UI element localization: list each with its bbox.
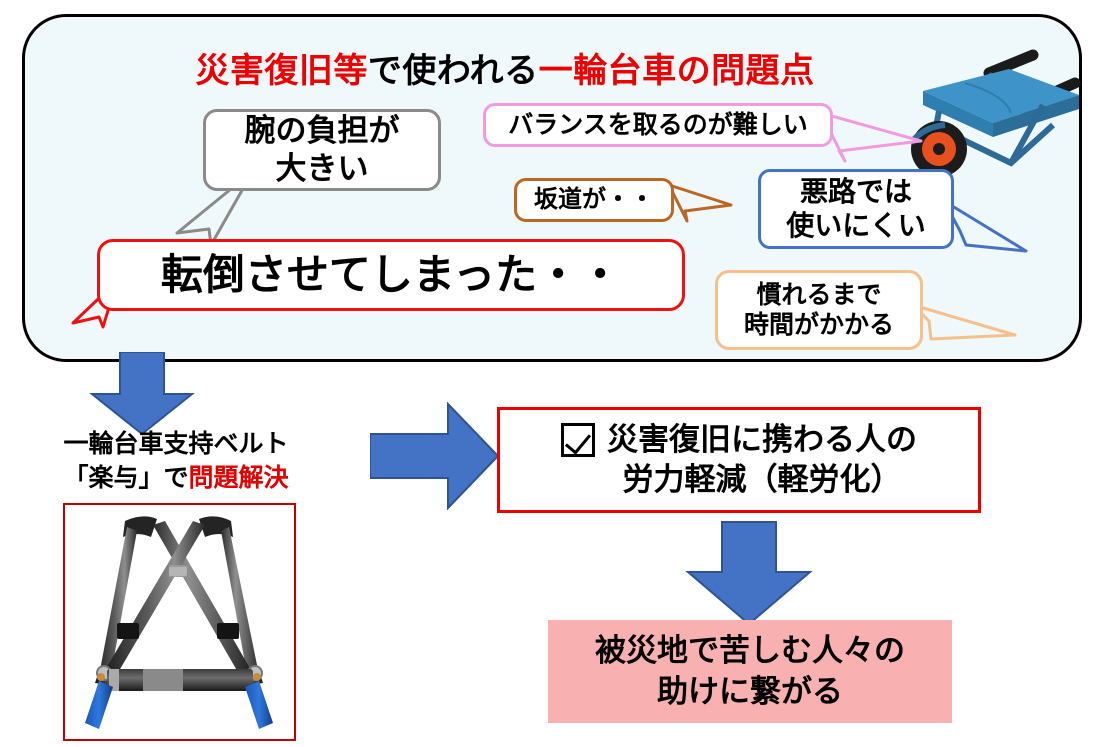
speech-bubble-arm-burden[interactable]: 腕の負担が 大きい [203, 109, 441, 191]
result-line1: 災害復旧に携わる人の [607, 422, 917, 457]
title-part-1: 災害復旧等 [195, 52, 368, 90]
bubble-text-time: 慣れるまで 時間がかかる [744, 280, 894, 341]
belt-caption-line2-red: 問題解決 [189, 464, 289, 492]
wheelbarrow-icon [893, 39, 1097, 189]
bubble-text-road: 悪路では 使いにくい [786, 175, 925, 243]
title-part-3: 一輪台車の問題点 [539, 52, 815, 90]
result-box: 災害復旧に携わる人の 労力軽減（軽労化） [497, 407, 981, 513]
bubble-text-arm: 腕の負担が 大きい [245, 112, 400, 188]
bubble-text-balance: バランスを取るのが難しい [508, 110, 808, 141]
arrow-down-to-belt-icon [86, 352, 198, 436]
speech-bubble-takes-time[interactable]: 慣れるまで 時間がかかる [715, 270, 923, 350]
belt-caption: 一輪台車支持ベルト 「楽与」で問題解決 [20, 428, 332, 496]
final-line1: 被災地で苦しむ人々の [595, 633, 905, 668]
speech-bubble-balance[interactable]: バランスを取るのが難しい [483, 103, 833, 147]
result-line2: 労力軽減（軽労化） [607, 460, 917, 500]
speech-bubble-bad-road[interactable]: 悪路では 使いにくい [758, 169, 954, 249]
infographic-canvas: 災害復旧等で使われる一輪台車の問題点 [0, 0, 1097, 747]
arrow-right-to-result-icon [370, 402, 500, 510]
belt-harness-illustration [65, 505, 294, 739]
final-outcome-box: 被災地で苦しむ人々の 助けに繋がる [548, 620, 952, 723]
bubble-text-slope: 坂道が・・ [534, 185, 654, 214]
belt-caption-line1: 一輪台車支持ベルト [20, 428, 332, 462]
belt-caption-line2-black: 「楽与」で [63, 464, 188, 492]
belt-caption-line2: 「楽与」で問題解決 [20, 462, 332, 496]
final-text: 被災地で苦しむ人々の 助けに繋がる [595, 631, 905, 712]
speech-bubble-slope[interactable]: 坂道が・・ [514, 178, 674, 222]
checkbox-checked-icon [561, 423, 595, 457]
arrow-down-to-final-icon [684, 520, 814, 628]
problem-panel: 災害復旧等で使われる一輪台車の問題点 [22, 14, 1082, 362]
support-belt-photo [63, 503, 296, 741]
page-title: 災害復旧等で使われる一輪台車の問題点 [65, 43, 945, 92]
bubble-text-fell: 転倒させてしまった・・ [161, 249, 621, 300]
speech-bubble-fell-over[interactable]: 転倒させてしまった・・ [97, 239, 685, 311]
final-line2: 助けに繋がる [657, 674, 843, 709]
result-text: 災害復旧に携わる人の 労力軽減（軽労化） [607, 420, 917, 501]
bubble-tail-time [909, 299, 1019, 345]
bubble-tail-slope [665, 181, 735, 225]
title-part-2: で使われる [368, 52, 539, 90]
